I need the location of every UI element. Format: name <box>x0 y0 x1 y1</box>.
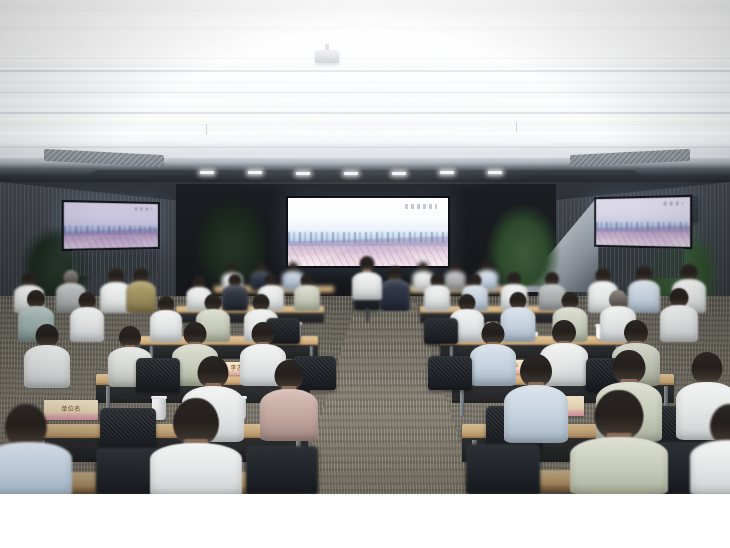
attendee <box>660 288 698 340</box>
ceiling-sensor <box>516 122 517 132</box>
attendee-foreground <box>0 404 86 494</box>
mesh-office-chair <box>428 356 472 390</box>
attendee-foreground <box>570 390 668 494</box>
mesh-office-chair <box>100 408 156 452</box>
downlight <box>200 171 214 174</box>
ceiling-light-strip <box>0 78 730 84</box>
mesh-office-chair <box>424 318 458 344</box>
attendee <box>294 274 320 310</box>
downlight <box>344 172 358 175</box>
ceiling-sensor <box>206 124 207 135</box>
left-side-display[interactable] <box>64 202 158 249</box>
screen-watermark-logo <box>405 204 437 209</box>
ceiling-light-strip <box>0 24 730 30</box>
mesh-office-chair <box>466 444 540 494</box>
ceiling-rail <box>0 146 730 149</box>
torso <box>150 443 242 494</box>
downlight <box>248 171 262 174</box>
ceiling-seam <box>0 124 730 125</box>
front-presenter <box>352 256 382 300</box>
torso <box>570 437 668 494</box>
head <box>36 324 59 347</box>
mesh-office-chair <box>246 446 318 494</box>
ceiling-light-strip <box>0 100 730 108</box>
ceiling-seam <box>0 58 730 59</box>
torso <box>24 345 70 388</box>
downlight <box>296 172 310 175</box>
attendee-foreground <box>150 398 242 494</box>
downlight <box>392 172 406 175</box>
ceiling-rail <box>0 70 730 72</box>
ceiling-light-strip <box>0 118 730 123</box>
ceiling-seam <box>0 92 730 93</box>
display-tint <box>596 197 690 247</box>
torso <box>352 272 382 300</box>
torso <box>0 442 72 494</box>
attendee <box>70 292 104 340</box>
display-tint <box>64 202 158 249</box>
downlight <box>488 171 502 174</box>
ceiling-light-strip <box>0 132 730 139</box>
ceiling-light-strip <box>0 60 730 67</box>
torso <box>424 285 450 311</box>
right-side-display[interactable] <box>596 197 690 247</box>
mesh-office-chair <box>136 358 180 392</box>
ceiling-rail <box>0 112 730 114</box>
downlight <box>440 171 454 174</box>
chair-post <box>366 308 369 322</box>
torso <box>504 385 568 443</box>
conference-room-photo: 张建华 李志军 <box>0 0 730 494</box>
torso <box>294 285 320 311</box>
screenshot-root: 张建华 李志军 <box>0 0 730 548</box>
attendee-foreground <box>690 404 730 494</box>
head <box>692 352 723 384</box>
torso <box>70 307 104 342</box>
torso <box>380 279 410 311</box>
torso <box>260 389 318 441</box>
torso <box>660 305 698 342</box>
attendee <box>424 274 450 310</box>
desk-leg <box>460 386 464 416</box>
torso <box>690 440 730 494</box>
ceiling-projector-icon <box>315 50 339 63</box>
ceiling-light-strip <box>0 2 730 12</box>
attendee <box>24 324 70 386</box>
attendee <box>380 266 410 310</box>
attendee <box>260 360 318 440</box>
attendee <box>504 354 568 442</box>
